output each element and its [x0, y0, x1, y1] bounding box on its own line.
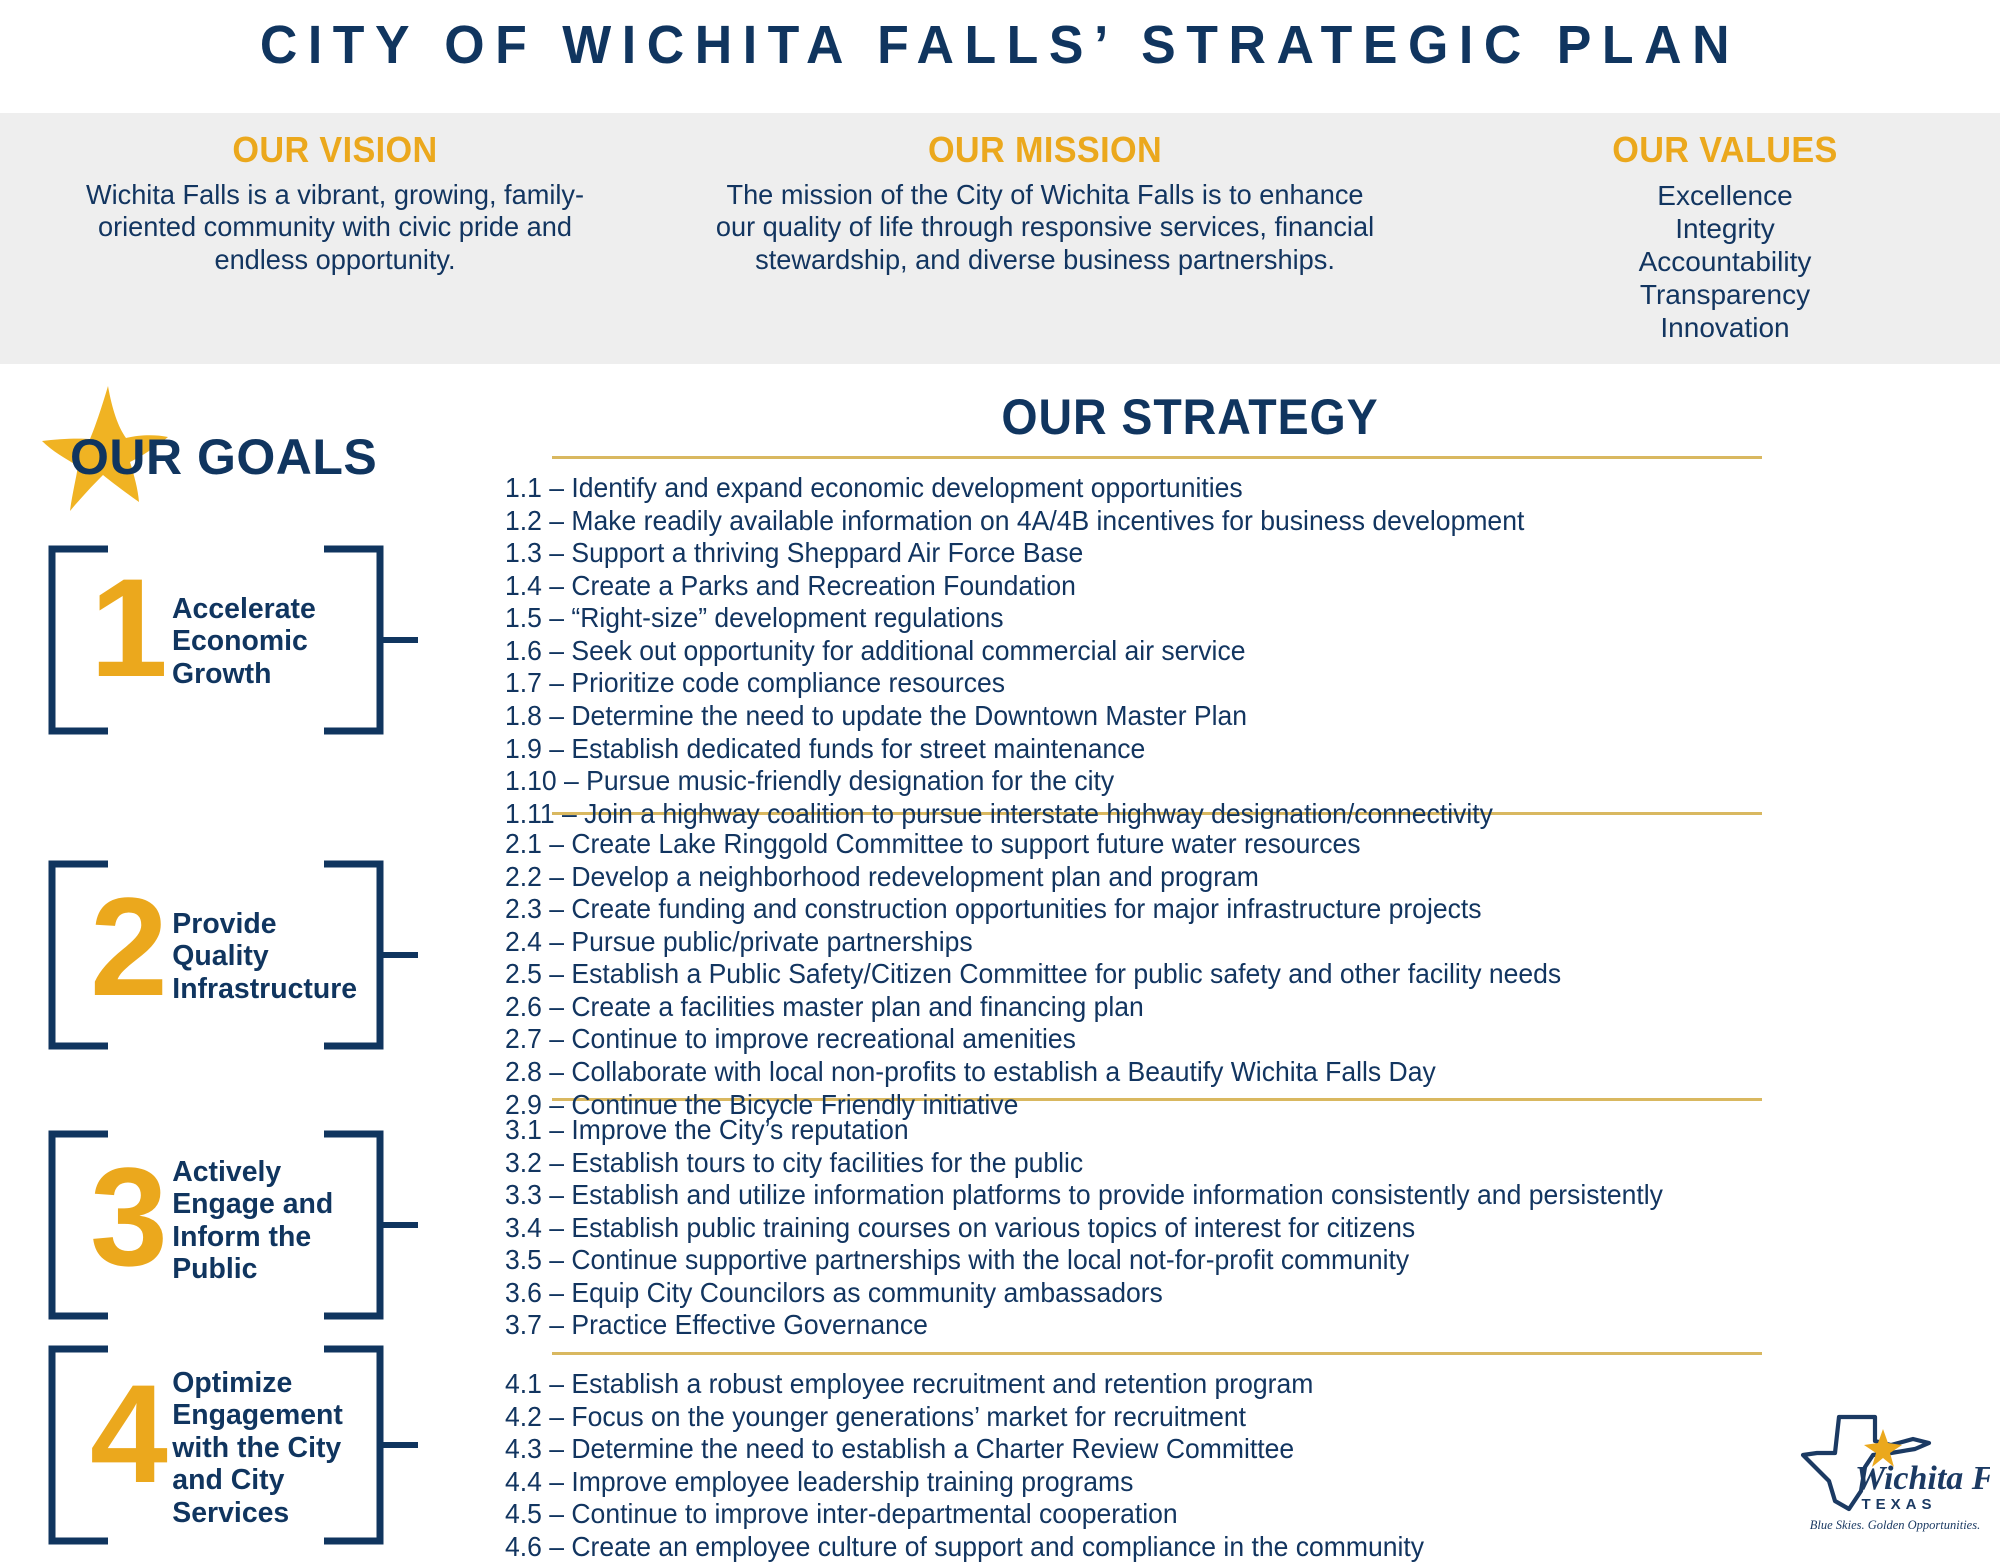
- goal-label-line: Inform the: [172, 1221, 388, 1253]
- logo-state: TEXAS: [1861, 1496, 1936, 1513]
- strategy-item: 3.7 – Practice Effective Governance: [505, 1309, 1663, 1342]
- goal-label-line: Actively: [172, 1156, 388, 1188]
- vision-text: Wichita Falls is a vibrant, growing, fam…: [29, 179, 640, 276]
- strategy-item: 1.10 – Pursue music-friendly designation…: [505, 765, 1524, 798]
- strategy-item: 1.4 – Create a Parks and Recreation Foun…: [505, 570, 1524, 603]
- mission-text: The mission of the City of Wichita Falls…: [672, 179, 1419, 276]
- strategy-item: 3.6 – Equip City Councilors as community…: [505, 1277, 1663, 1310]
- values-column: OUR VALUES Excellence Integrity Accounta…: [1455, 113, 1995, 344]
- goal-number: 3: [90, 1160, 168, 1275]
- goal-label-line: Public: [172, 1253, 388, 1285]
- value-item: Accountability: [1455, 245, 1995, 278]
- goal-label-line: Growth: [172, 658, 368, 690]
- strategy-item: 2.7 – Continue to improve recreational a…: [505, 1023, 1561, 1056]
- strategy-item: 1.9 – Establish dedicated funds for stre…: [505, 733, 1524, 766]
- strategy-list-2: 2.1 – Create Lake Ringgold Committee to …: [505, 828, 1561, 1121]
- goal-number: 4: [90, 1377, 168, 1492]
- goal-label-line: Economic: [172, 625, 368, 657]
- goals-heading: OUR GOALS: [70, 428, 377, 486]
- strategy-item: 1.5 – “Right-size” development regulatio…: [505, 602, 1524, 635]
- goal-block-2: 2 Provide Quality Infrastructure: [38, 860, 418, 1050]
- strategy-list-4: 4.1 – Establish a robust employee recrui…: [505, 1368, 1424, 1563]
- mission-heading: OUR MISSION: [679, 129, 1411, 171]
- logo-tagline: Blue Skies. Golden Opportunities.: [1810, 1518, 1980, 1532]
- strategy-item: 4.4 – Improve employee leadership traini…: [505, 1466, 1424, 1499]
- vision-column: OUR VISION Wichita Falls is a vibrant, g…: [20, 113, 650, 276]
- goal-label-line: and City: [172, 1464, 397, 1496]
- goal-number: 2: [90, 890, 168, 1005]
- strategy-item: 1.8 – Determine the need to update the D…: [505, 700, 1524, 733]
- goal-label-line: Engage and: [172, 1188, 388, 1220]
- strategy-item: 4.2 – Focus on the younger generations’ …: [505, 1401, 1424, 1434]
- city-logo: Wichita Falls TEXAS Blue Skies. Golden O…: [1795, 1405, 1990, 1537]
- value-item: Excellence: [1455, 179, 1995, 212]
- strategy-item: 1.3 – Support a thriving Sheppard Air Fo…: [505, 537, 1524, 570]
- goal-label-line: Infrastructure: [172, 973, 397, 1005]
- strategy-item: 2.1 – Create Lake Ringgold Committee to …: [505, 828, 1561, 861]
- value-item: Innovation: [1455, 311, 1995, 344]
- strategy-item: 3.4 – Establish public training courses …: [505, 1212, 1663, 1245]
- goal-label-line: with the City: [172, 1432, 397, 1464]
- mission-column: OUR MISSION The mission of the City of W…: [660, 113, 1430, 276]
- values-list: Excellence Integrity Accountability Tran…: [1455, 179, 1995, 344]
- strategy-heading: OUR STRATEGY: [548, 388, 1831, 446]
- strategy-item: 4.5 – Continue to improve inter-departme…: [505, 1498, 1424, 1531]
- strategy-item: 2.3 – Create funding and construction op…: [505, 893, 1561, 926]
- strategy-item: 4.1 – Establish a robust employee recrui…: [505, 1368, 1424, 1401]
- strategy-item: 2.6 – Create a facilities master plan an…: [505, 991, 1561, 1024]
- goal-label-line: Accelerate: [172, 593, 368, 625]
- strategy-item: 2.5 – Establish a Public Safety/Citizen …: [505, 958, 1561, 991]
- strategy-item: 1.7 – Prioritize code compliance resourc…: [505, 667, 1524, 700]
- strategy-item: 2.8 – Collaborate with local non-profits…: [505, 1056, 1561, 1089]
- strategy-list-3: 3.1 – Improve the City’s reputation 3.2 …: [505, 1114, 1663, 1342]
- goal-block-4: 4 Optimize Engagement with the City and …: [38, 1345, 418, 1545]
- goal-label-line: Quality: [172, 940, 397, 972]
- divider-rule-4: [552, 1352, 1762, 1355]
- strategy-item: 4.6 – Create an employee culture of supp…: [505, 1531, 1424, 1563]
- goal-block-1: 1 Accelerate Economic Growth: [38, 545, 418, 735]
- goal-number: 1: [90, 571, 168, 686]
- divider-rule-1: [552, 456, 1762, 459]
- vision-mission-values-band: OUR VISION Wichita Falls is a vibrant, g…: [0, 113, 2000, 364]
- goal-label: Optimize Engagement with the City and Ci…: [172, 1367, 397, 1529]
- strategy-item: 3.5 – Continue supportive partnerships w…: [505, 1244, 1663, 1277]
- goal-label: Accelerate Economic Growth: [172, 593, 368, 690]
- strategy-item: 2.2 – Develop a neighborhood redevelopme…: [505, 861, 1561, 894]
- strategy-item: 1.11 – Join a highway coalition to pursu…: [505, 798, 1524, 831]
- strategy-list-1: 1.1 – Identify and expand economic devel…: [505, 472, 1524, 830]
- strategy-item: 3.3 – Establish and utilize information …: [505, 1179, 1663, 1212]
- page-title: CITY OF WICHITA FALLS’ STRATEGIC PLAN: [40, 14, 1960, 76]
- goal-block-3: 3 Actively Engage and Inform the Public: [38, 1130, 418, 1320]
- value-item: Transparency: [1455, 278, 1995, 311]
- goal-label-line: Services: [172, 1497, 397, 1529]
- strategy-item: 4.3 – Determine the need to establish a …: [505, 1433, 1424, 1466]
- goal-label: Actively Engage and Inform the Public: [172, 1156, 388, 1286]
- strategy-item: 1.1 – Identify and expand economic devel…: [505, 472, 1524, 505]
- strategy-item: 3.1 – Improve the City’s reputation: [505, 1114, 1663, 1147]
- goal-label-line: Engagement: [172, 1399, 397, 1431]
- goal-label-line: Optimize: [172, 1367, 397, 1399]
- strategy-item: 1.2 – Make readily available information…: [505, 505, 1524, 538]
- strategy-item: 3.2 – Establish tours to city facilities…: [505, 1147, 1663, 1180]
- strategy-item: 2.4 – Pursue public/private partnerships: [505, 926, 1561, 959]
- strategy-item: 1.6 – Seek out opportunity for additiona…: [505, 635, 1524, 668]
- goal-label: Provide Quality Infrastructure: [172, 908, 397, 1005]
- value-item: Integrity: [1455, 212, 1995, 245]
- vision-heading: OUR VISION: [36, 129, 635, 171]
- values-heading: OUR VALUES: [1469, 129, 1982, 171]
- goal-label-line: Provide: [172, 908, 397, 940]
- logo-wordmark: Wichita Falls: [1855, 1460, 1990, 1497]
